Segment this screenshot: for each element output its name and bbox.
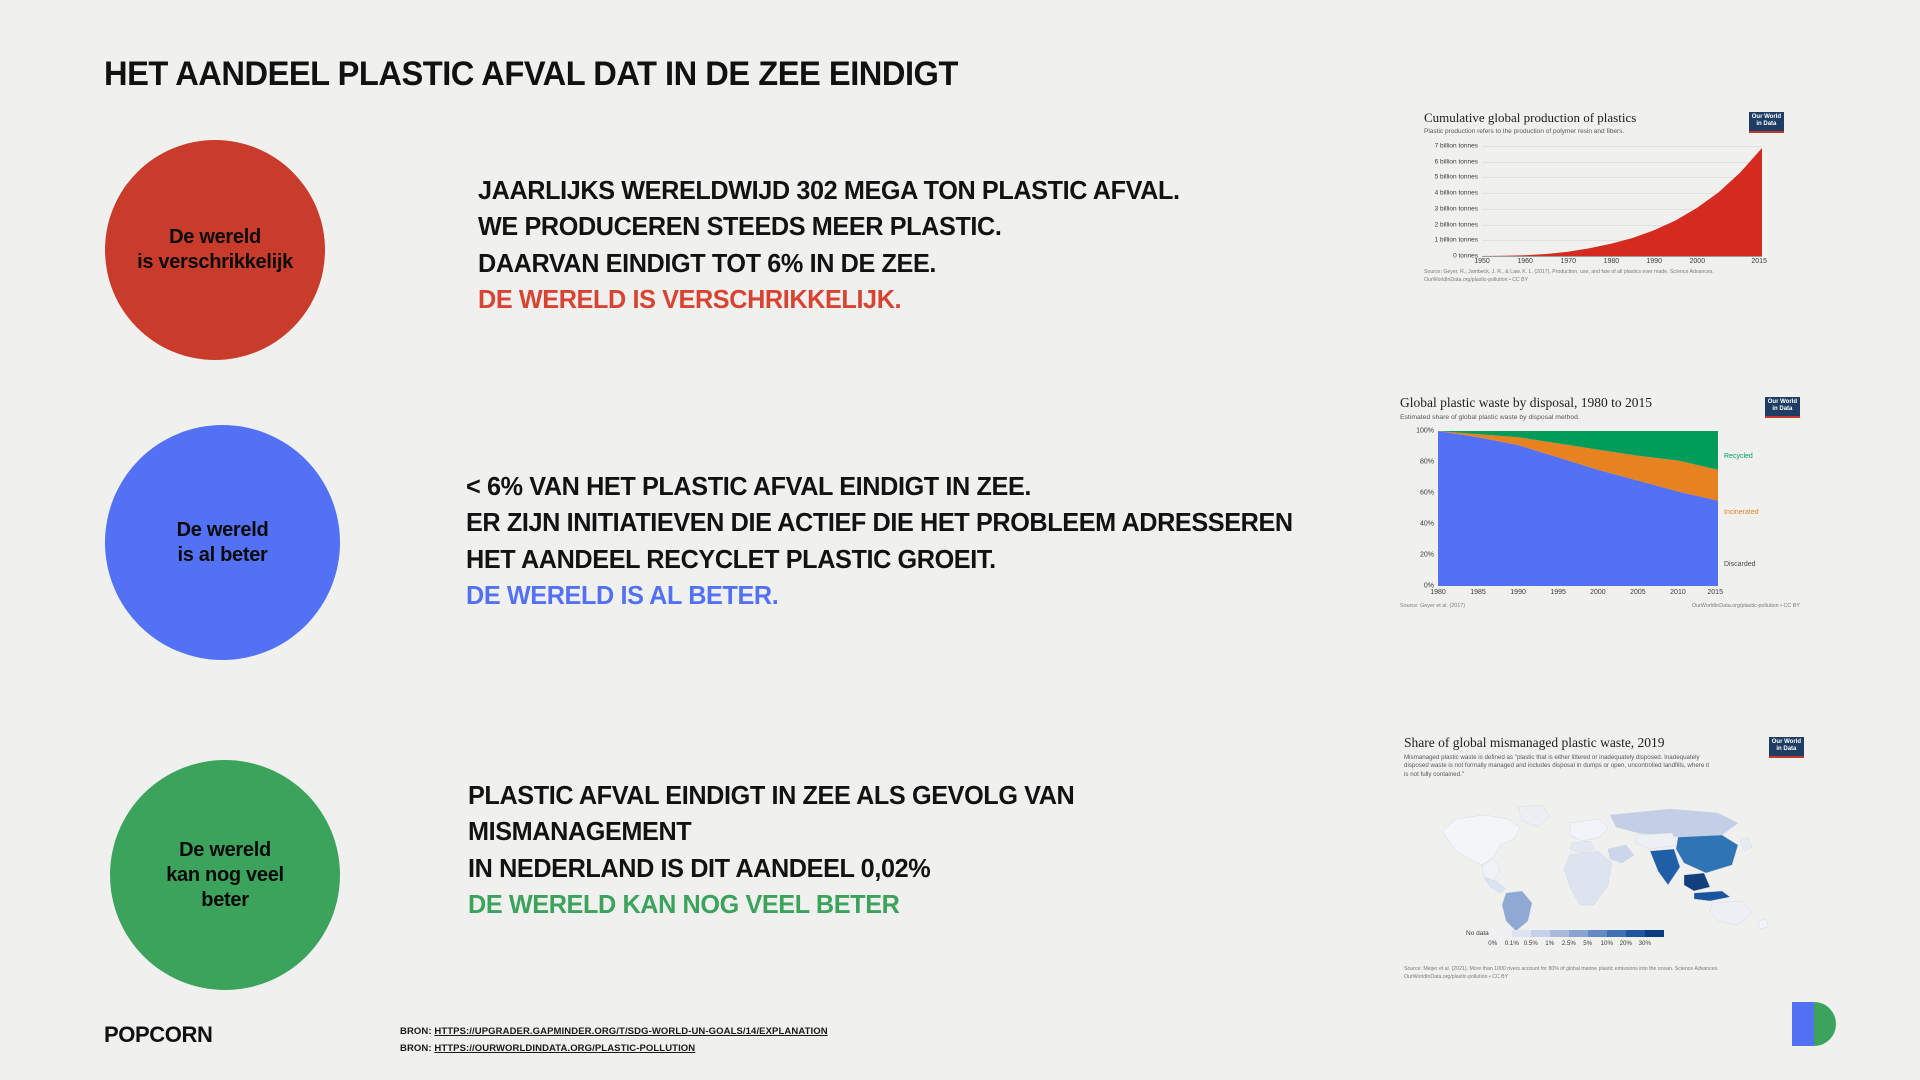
y-tick-label: 100% — [1416, 428, 1434, 435]
source-row: BRON: HTTPS://UPGRADER.GAPMINDER.ORG/T/S… — [400, 1024, 828, 1041]
legend-swatch — [1531, 930, 1550, 937]
infographic-page: HET AANDEEL PLASTIC AFVAL DAT IN DE ZEE … — [0, 0, 1920, 1080]
legend-swatch — [1626, 930, 1645, 937]
text-block-kan-nog-veel-beter: PLASTIC AFVAL EINDIGT IN ZEE ALS GEVOLG … — [468, 777, 1093, 923]
legend-tick: 1% — [1545, 940, 1554, 947]
x-tick-label: 1995 — [1550, 589, 1566, 596]
legend-tick: 5% — [1583, 940, 1592, 947]
axis-line — [1482, 256, 1762, 257]
legend-tick: 10% — [1601, 940, 1613, 947]
x-tick-label: 1960 — [1517, 258, 1533, 265]
circle-label-line: De wereld — [137, 225, 293, 250]
y-tick-label: 4 billion tonnes — [1435, 190, 1478, 197]
x-tick-label: 1990 — [1646, 258, 1662, 265]
text-block-verschrikkelijk: JAARLIJKS WERELDWIJD 302 MEGA TON PLASTI… — [478, 172, 1201, 318]
chart-subtitle: Plastic production refers to the product… — [1424, 128, 1784, 137]
chart-mismanaged-plastic-waste-map: Share of global mismanaged plastic waste… — [1404, 735, 1804, 985]
body-line: < 6% VAN HET PLASTIC AFVAL EINDIGT IN ZE… — [466, 468, 1293, 504]
legend-scale: 0% 0.1% 0.5% 1% 2.5% 5% 10% 20% 30% — [1493, 930, 1664, 937]
circle-label-line: kan nog veel — [166, 863, 284, 888]
x-tick-label: 2005 — [1630, 589, 1646, 596]
circle-badge-al-beter: De wereld is al beter — [105, 425, 340, 660]
page-title: HET AANDEEL PLASTIC AFVAL DAT IN DE ZEE … — [104, 55, 958, 94]
series-label-incinerated: Incinerated — [1724, 509, 1759, 516]
legend-swatch — [1512, 930, 1531, 937]
popcorn-logo-icon — [1786, 996, 1842, 1052]
chart-title: Global plastic waste by disposal, 1980 t… — [1400, 395, 1800, 411]
y-tick-label: 80% — [1420, 459, 1434, 466]
body-line: JAARLIJKS WERELDWIJD 302 MEGA TON PLASTI… — [478, 172, 1180, 208]
chart-source-license: OurWorldInData.org/plastic-pollution • C… — [1692, 603, 1800, 609]
body-line: IN NEDERLAND IS DIT AANDEEL 0,02% — [468, 850, 1074, 886]
chart-source: Source: Meijer et al. (2021). More than … — [1404, 965, 1719, 981]
body-line: ER ZIJN INITIATIEVEN DIE ACTIEF DIE HET … — [466, 504, 1293, 540]
y-tick-label: 40% — [1420, 521, 1434, 528]
chart-source-line: OurWorldInData.org/plastic-pollution • C… — [1404, 973, 1719, 981]
source-link[interactable]: HTTPS://OURWORLDINDATA.ORG/PLASTIC-POLLU… — [434, 1043, 695, 1054]
legend-swatch — [1550, 930, 1569, 937]
body-line: PLASTIC AFVAL EINDIGT IN ZEE ALS GEVOLG … — [468, 777, 1074, 813]
legend-nodata-label: No data — [1466, 930, 1489, 937]
source-prefix: BRON: — [400, 1026, 434, 1037]
body-line: HET AANDEEL RECYCLET PLASTIC GROEIT. — [466, 541, 1293, 577]
y-tick-label: 6 billion tonnes — [1435, 158, 1478, 165]
owid-badge: Our Worldin Data — [1769, 737, 1804, 758]
y-tick-label: 7 billion tonnes — [1435, 143, 1478, 150]
legend-tick: 30% — [1639, 940, 1651, 947]
chart-source-line: OurWorldInData.org/plastic-pollution • C… — [1424, 276, 1714, 284]
body-line: MISMANAGEMENT — [468, 813, 1074, 849]
chart-plot-area: 100% 80% 60% 40% 20% 0% 1980 1985 1990 1… — [1438, 431, 1718, 586]
source-links: BRON: HTTPS://UPGRADER.GAPMINDER.ORG/T/S… — [400, 1024, 828, 1057]
y-tick-label: 3 billion tonnes — [1435, 205, 1478, 212]
source-prefix: BRON: — [400, 1043, 434, 1054]
legend-tick: 0% — [1488, 940, 1497, 947]
circle-label-line: De wereld — [177, 518, 269, 543]
series-label-recycled: Recycled — [1724, 453, 1753, 460]
x-tick-label: 1950 — [1474, 258, 1490, 265]
chart-source-line: Source: Meijer et al. (2021). More than … — [1404, 965, 1719, 973]
chart-cumulative-plastic-production: Cumulative global production of plastics… — [1424, 110, 1784, 285]
circle-label-line: beter — [166, 888, 284, 913]
y-tick-label: 60% — [1420, 490, 1434, 497]
source-row: BRON: HTTPS://OURWORLDINDATA.ORG/PLASTIC… — [400, 1041, 828, 1058]
y-tick-label: 2 billion tonnes — [1435, 221, 1478, 228]
highlight-line: DE WERELD IS VERSCHRIKKELIJK. — [478, 281, 1180, 317]
legend-tick: 20% — [1620, 940, 1632, 947]
y-tick-label: 20% — [1420, 552, 1434, 559]
x-tick-label: 2000 — [1690, 258, 1706, 265]
owid-badge: Our Worldin Data — [1749, 112, 1784, 133]
legend-swatch — [1645, 930, 1664, 937]
chart-source: Source: Geyer, R., Jambeck, J. R., & Law… — [1424, 268, 1714, 284]
legend-tick: 0.5% — [1524, 940, 1538, 947]
text-block-al-beter: < 6% VAN HET PLASTIC AFVAL EINDIGT IN ZE… — [466, 468, 1318, 614]
x-tick-label: 1970 — [1560, 258, 1576, 265]
circle-label-line: is verschrikkelijk — [137, 250, 293, 275]
x-tick-label: 1980 — [1604, 258, 1620, 265]
circle-label-line: is al beter — [177, 543, 269, 568]
chart-plastic-waste-by-disposal: Global plastic waste by disposal, 1980 t… — [1400, 395, 1800, 620]
legend-swatch — [1607, 930, 1626, 937]
world-map — [1422, 793, 1782, 933]
x-tick-label: 1985 — [1470, 589, 1486, 596]
owid-badge: Our Worldin Data — [1765, 397, 1800, 418]
legend-tick: 0.1% — [1505, 940, 1519, 947]
circle-badge-kan-nog-veel-beter: De wereld kan nog veel beter — [110, 760, 340, 990]
area-series-production — [1482, 146, 1762, 256]
body-line: WE PRODUCEREN STEEDS MEER PLASTIC. — [478, 208, 1180, 244]
circle-badge-verschrikkelijk: De wereld is verschrikkelijk — [105, 140, 325, 360]
body-line: DAARVAN EINDIGT TOT 6% IN DE ZEE. — [478, 245, 1180, 281]
chart-subtitle: Estimated share of global plastic waste … — [1400, 413, 1800, 422]
highlight-line: DE WERELD IS AL BETER. — [466, 577, 1293, 613]
legend-swatch — [1569, 930, 1588, 937]
circle-label-group: De wereld is verschrikkelijk — [137, 225, 293, 275]
y-tick-label: 1 billion tonnes — [1435, 237, 1478, 244]
x-tick-label: 2000 — [1590, 589, 1606, 596]
x-tick-label: 2015 — [1751, 258, 1767, 265]
chart-source-line: Source: Geyer, R., Jambeck, J. R., & Law… — [1424, 268, 1714, 276]
source-link[interactable]: HTTPS://UPGRADER.GAPMINDER.ORG/T/SDG-WOR… — [434, 1026, 827, 1037]
stacked-area-series — [1438, 431, 1718, 586]
chart-title: Share of global mismanaged plastic waste… — [1404, 735, 1804, 751]
circle-label-line: De wereld — [166, 838, 284, 863]
chart-plot-area: 0 tonnes 1 billion tonnes 2 billion tonn… — [1482, 146, 1762, 256]
circle-label-group: De wereld is al beter — [177, 518, 269, 568]
legend-swatch — [1588, 930, 1607, 937]
x-tick-label: 2015 — [1707, 589, 1723, 596]
series-label-discarded: Discarded — [1724, 561, 1756, 568]
highlight-line: DE WERELD KAN NOG VEEL BETER — [468, 886, 1074, 922]
y-tick-label: 5 billion tonnes — [1435, 174, 1478, 181]
x-tick-label: 1980 — [1430, 589, 1446, 596]
x-tick-label: 1990 — [1510, 589, 1526, 596]
circle-label-group: De wereld kan nog veel beter — [166, 838, 284, 913]
map-legend: No data 0% 0.1% 0.5% 1% 2.5% 5% 10% 20% — [1466, 930, 1664, 937]
x-tick-label: 2010 — [1670, 589, 1686, 596]
chart-source: Source: Geyer et al. (2017) — [1400, 603, 1465, 609]
chart-subtitle: Mismanaged plastic waste is defined as "… — [1404, 754, 1714, 779]
legend-swatch — [1493, 930, 1512, 937]
chart-title: Cumulative global production of plastics — [1424, 110, 1784, 126]
brand-popcorn: POPCORN — [104, 1022, 212, 1048]
legend-tick: 2.5% — [1562, 940, 1576, 947]
